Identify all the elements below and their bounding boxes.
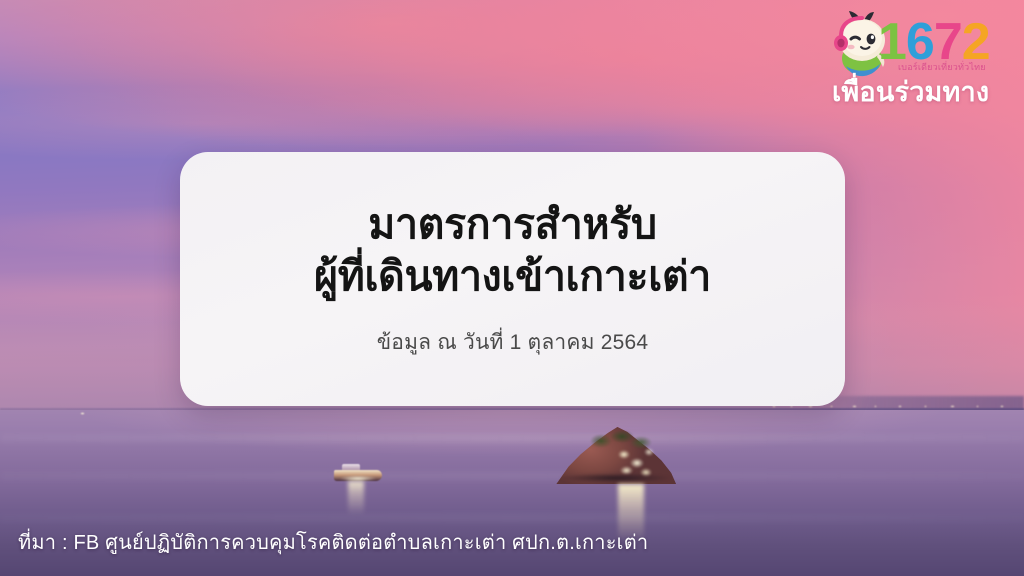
boat-light-reflection [348,481,364,515]
water-streak [0,514,1024,522]
source-caption: ที่มา : FB ศูนย์ปฏิบัติการควบคุมโรคติดต่… [18,526,648,558]
water-streak [0,434,1024,442]
water-streak [0,472,1024,480]
hotline-1672-logo[interactable]: 1672 เบอร์เดียวเที่ยวทั่วไทย เพื่อนร่วมท… [820,4,1010,108]
title-line-2: ผู้ที่เดินทางเข้าเกาะเต่า [314,251,711,302]
title-line-1: มาตรการสำหรับ [314,199,711,250]
title-subtitle: ข้อมูล ณ วันที่ 1 ตุลาคม 2564 [377,326,649,359]
logo-brand-name: เพื่อนร่วมทาง [832,70,989,113]
island-waterline [544,472,686,484]
slide-canvas: 1672 เบอร์เดียวเที่ยวทั่วไทย เพื่อนร่วมท… [0,0,1024,576]
fishing-boat [330,462,386,502]
title-card: มาตรการสำหรับ ผู้ที่เดินทางเข้าเกาะเต่า … [180,152,845,406]
water-glint [80,412,85,415]
rocky-island [540,414,690,494]
page-title: มาตรการสำหรับ ผู้ที่เดินทางเข้าเกาะเต่า [294,199,731,302]
